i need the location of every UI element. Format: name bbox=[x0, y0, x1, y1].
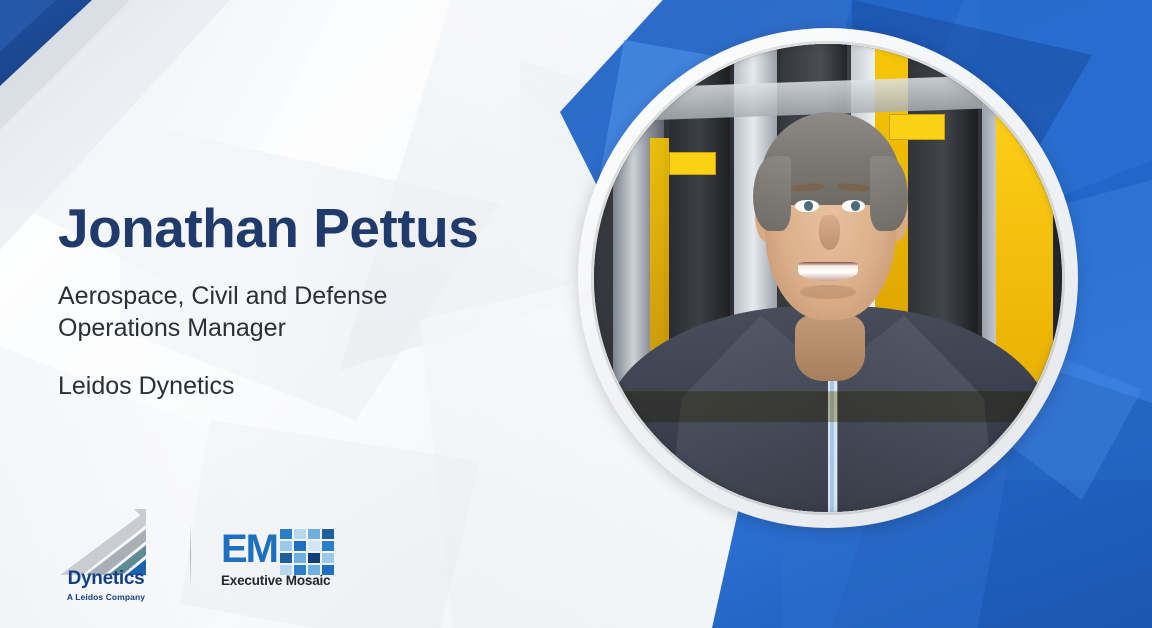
speaker-announcement-graphic: Jonathan Pettus Aerospace, Civil and Def… bbox=[0, 0, 1152, 628]
em-letters: EM bbox=[221, 528, 277, 572]
em-mosaic-tile bbox=[280, 529, 292, 539]
em-mosaic-tile bbox=[308, 529, 320, 539]
em-mosaic-tile bbox=[322, 553, 334, 563]
em-mosaic-tile bbox=[294, 541, 306, 551]
logo-row: Dynetics A Leidos Company EM Executive M… bbox=[52, 509, 341, 604]
speaker-role: Aerospace, Civil and Defense Operations … bbox=[58, 280, 387, 344]
em-mosaic-tile bbox=[294, 529, 306, 539]
dynetics-wordmark: Dynetics bbox=[52, 568, 160, 590]
executive-mosaic-logo: EM Executive Mosaic bbox=[221, 528, 341, 598]
em-mosaic-grid bbox=[280, 529, 334, 572]
em-mosaic-tile bbox=[280, 553, 292, 563]
em-mark: EM bbox=[221, 528, 341, 572]
em-mosaic-tile bbox=[308, 541, 320, 551]
speaker-role-line-2: Operations Manager bbox=[58, 312, 387, 344]
em-mosaic-tile bbox=[322, 541, 334, 551]
em-mosaic-tile bbox=[280, 541, 292, 551]
dynetics-tagline: A Leidos Company bbox=[52, 592, 160, 602]
logo-divider bbox=[190, 522, 191, 588]
em-mosaic-tile bbox=[294, 553, 306, 563]
dynetics-logo: Dynetics A Leidos Company bbox=[52, 509, 160, 604]
em-mosaic-tile bbox=[322, 529, 334, 539]
dynetics-triangle-mark bbox=[60, 509, 150, 575]
portrait-circle bbox=[578, 28, 1078, 528]
speaker-role-line-1: Aerospace, Civil and Defense bbox=[58, 280, 387, 312]
executive-mosaic-wordmark: Executive Mosaic bbox=[221, 573, 341, 588]
em-mosaic-tile bbox=[308, 553, 320, 563]
speaker-organization: Leidos Dynetics bbox=[58, 372, 234, 401]
speaker-name: Jonathan Pettus bbox=[58, 200, 478, 258]
portrait-inner-shadow bbox=[591, 41, 1065, 515]
